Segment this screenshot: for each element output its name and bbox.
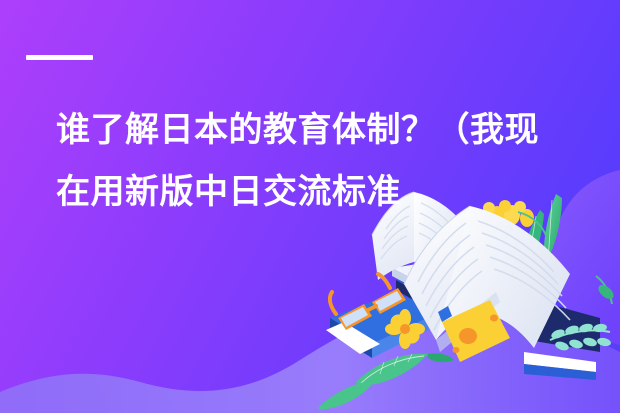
front-leaves (318, 353, 454, 410)
headline-line-1: 谁了解日本的教育体制？（我现 (56, 99, 576, 161)
accent-rule (26, 55, 93, 60)
promo-banner: 谁了解日本的教育体制？（我现 在用新版中日交流标准 (0, 0, 620, 413)
headline: 谁了解日本的教育体制？（我现 在用新版中日交流标准 (56, 99, 576, 223)
headline-line-2: 在用新版中日交流标准 (56, 161, 576, 223)
